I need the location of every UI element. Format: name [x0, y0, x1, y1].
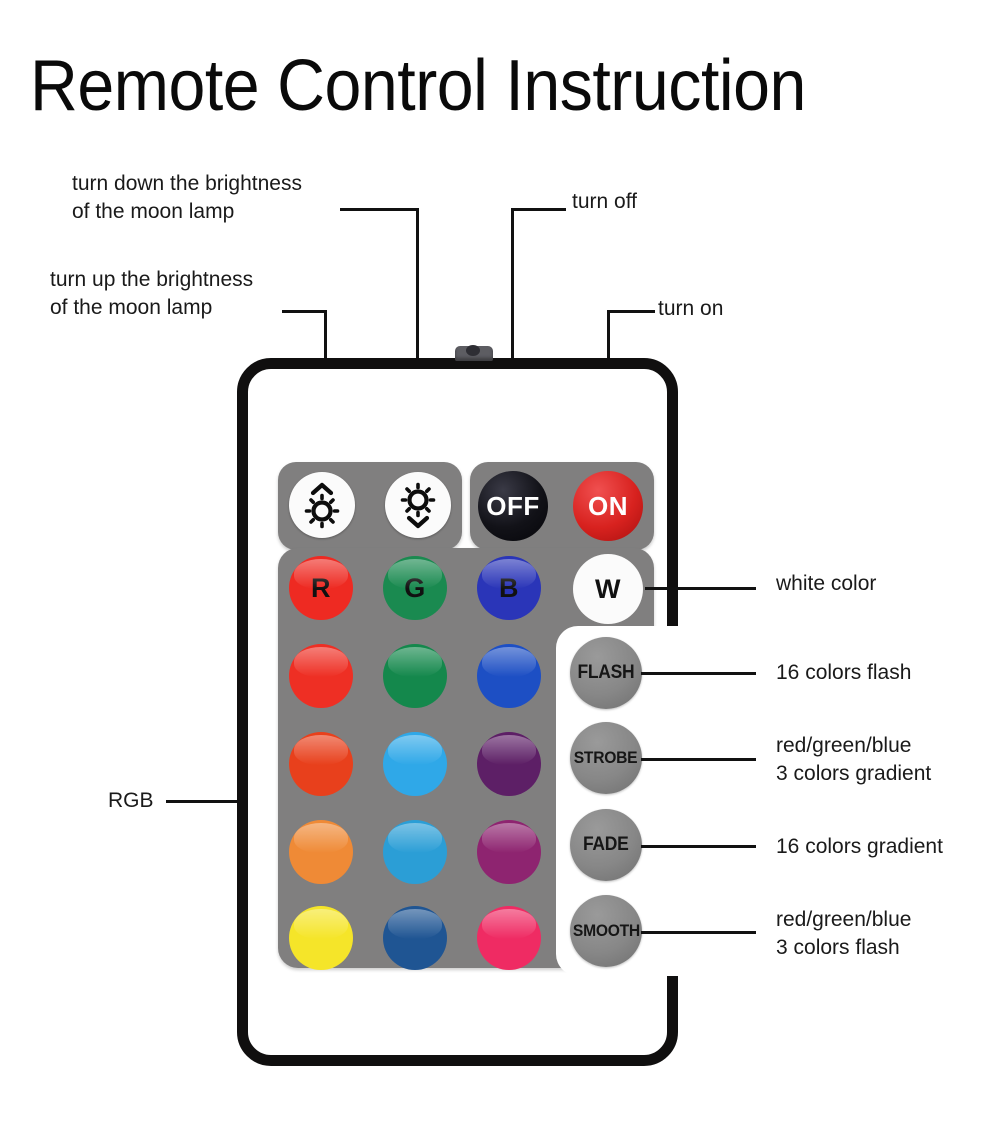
gloss-highlight: [482, 735, 536, 764]
color-button-purple[interactable]: [477, 732, 541, 796]
fade-button[interactable]: FADE: [570, 809, 642, 881]
color-button-magenta-purple[interactable]: [477, 820, 541, 884]
gloss-highlight: [482, 647, 536, 676]
flash-button[interactable]: FLASH: [570, 637, 642, 709]
gloss-highlight: [482, 559, 536, 588]
gloss-highlight: [482, 909, 536, 938]
brightness-up-button[interactable]: [289, 472, 355, 538]
color-button-label: B: [499, 575, 519, 602]
color-button-navy-blue[interactable]: [383, 906, 447, 970]
leader-brightness-down-horizontal: [340, 208, 419, 211]
gloss-highlight: [388, 735, 442, 764]
leader-strobe: [641, 758, 756, 761]
color-button-red-2[interactable]: [289, 644, 353, 708]
leader-turn-on-horizontal: [607, 310, 655, 313]
annotation-flash: 16 colors flash: [776, 659, 1000, 687]
color-button-white[interactable]: W: [573, 554, 643, 624]
color-button-green-2[interactable]: [383, 644, 447, 708]
remote-control-instruction-page: Remote Control Instruction turn down the…: [0, 0, 1000, 1137]
color-button-orange[interactable]: [289, 820, 353, 884]
color-button-cyan[interactable]: [383, 732, 447, 796]
gloss-highlight: [388, 647, 442, 676]
annotation-white-color: white color: [776, 570, 996, 598]
color-button-red[interactable]: R: [289, 556, 353, 620]
gloss-highlight: [294, 735, 348, 764]
ir-emitter-dot: [466, 345, 480, 356]
page-title: Remote Control Instruction: [30, 38, 895, 134]
smooth-label: SMOOTH: [573, 921, 640, 941]
color-button-yellow[interactable]: [289, 906, 353, 970]
color-button-pink[interactable]: [477, 906, 541, 970]
leader-fade: [641, 845, 756, 848]
color-button-label: W: [595, 576, 621, 603]
leader-smooth: [641, 931, 756, 934]
smooth-button[interactable]: SMOOTH: [570, 895, 642, 967]
leader-turn-off-horizontal: [511, 208, 566, 211]
brightness-down-button[interactable]: [385, 472, 451, 538]
gloss-highlight: [294, 823, 348, 852]
gloss-highlight: [294, 559, 348, 588]
sun-up-icon: [299, 479, 345, 531]
power-on-label: ON: [588, 491, 628, 522]
gloss-highlight: [294, 909, 348, 938]
color-button-blue[interactable]: B: [477, 556, 541, 620]
power-on-button[interactable]: ON: [573, 471, 643, 541]
strobe-button[interactable]: STROBE: [570, 722, 642, 794]
annotation-smooth: red/green/blue 3 colors flash: [776, 906, 996, 962]
leader-brightness-up-horizontal: [282, 310, 327, 313]
gloss-highlight: [294, 647, 348, 676]
color-button-label: G: [404, 575, 426, 602]
gloss-highlight: [482, 823, 536, 852]
color-button-sky-blue[interactable]: [383, 820, 447, 884]
leader-white-color: [645, 587, 756, 590]
color-button-orange-red[interactable]: [289, 732, 353, 796]
sun-down-icon: [395, 479, 441, 531]
annotation-turn-on: turn on: [658, 295, 858, 323]
strobe-label: STROBE: [574, 748, 638, 768]
annotation-strobe: red/green/blue 3 colors gradient: [776, 732, 996, 788]
gloss-highlight: [388, 909, 442, 938]
leader-flash: [641, 672, 756, 675]
power-off-label: OFF: [486, 491, 540, 522]
flash-label: FLASH: [578, 662, 635, 684]
color-button-blue-2[interactable]: [477, 644, 541, 708]
color-button-label: R: [311, 575, 331, 602]
annotation-turn-off: turn off: [572, 188, 772, 216]
fade-label: FADE: [583, 834, 629, 856]
annotation-brightness-up: turn up the brightness of the moon lamp: [50, 266, 380, 322]
color-button-green[interactable]: G: [383, 556, 447, 620]
gloss-highlight: [388, 823, 442, 852]
gloss-highlight: [388, 559, 442, 588]
power-off-button[interactable]: OFF: [478, 471, 548, 541]
annotation-brightness-down: turn down the brightness of the moon lam…: [72, 170, 402, 226]
annotation-fade: 16 colors gradient: [776, 833, 1000, 861]
